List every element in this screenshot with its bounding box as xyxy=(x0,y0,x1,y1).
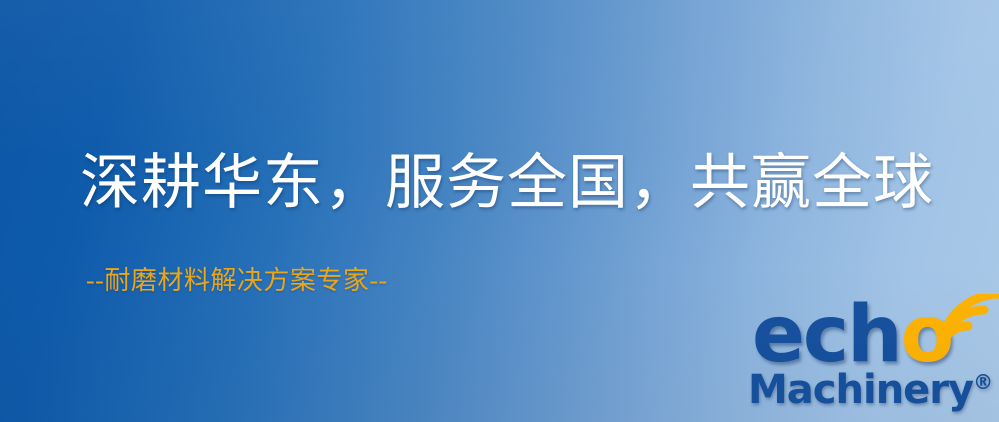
logo-subtext: Machinery® xyxy=(748,370,993,410)
logo-wordmark: echo xyxy=(752,296,952,374)
signal-waves-icon xyxy=(930,294,999,366)
registered-trademark-icon: ® xyxy=(973,370,993,394)
company-logo[interactable]: echo Machinery® xyxy=(744,296,996,418)
banner-headline: 深耕华东，服务全国，共赢全球 xyxy=(80,152,934,215)
banner-subtitle: --耐磨材料解决方案专家-- xyxy=(86,265,388,296)
promo-banner: 深耕华东，服务全国，共赢全球 --耐磨材料解决方案专家-- echo Machi… xyxy=(0,0,999,422)
logo-subtext-label: Machinery xyxy=(748,367,973,413)
